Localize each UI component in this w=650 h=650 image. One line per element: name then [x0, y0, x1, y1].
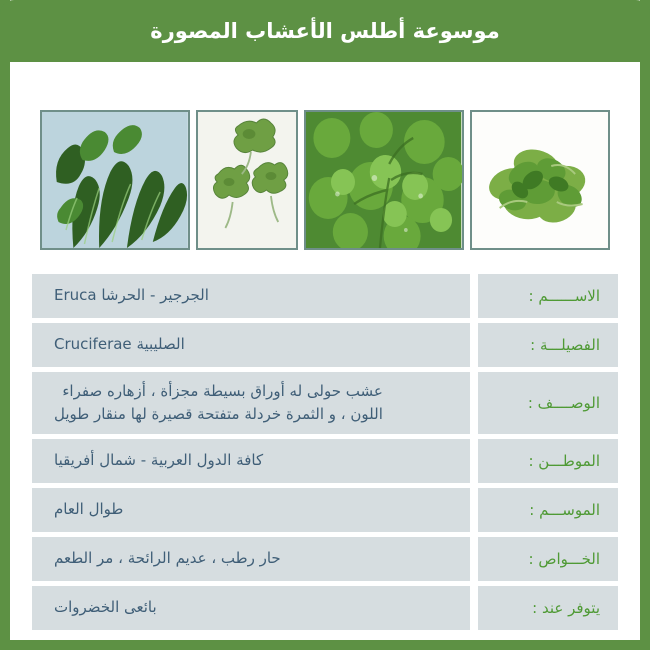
rocket-bunch-photo[interactable] [40, 110, 190, 250]
value-name: الجرجير - الحرشا Eruca [32, 274, 470, 318]
rocket-leaf-specimens-image [198, 112, 296, 248]
rocket-bunch-image [42, 112, 188, 248]
value-habitat: كافة الدول العربية - شمال أفريقيا [32, 439, 470, 483]
label-season: الموســـم : [478, 488, 618, 532]
table-row-properties: الخـــواص : حار رطب ، عديم الرائحة ، مر … [32, 537, 618, 581]
table-row-season: الموســـم : طوال العام [32, 488, 618, 532]
page-content: الاســــــم : الجرجير - الحرشا Eruca الف… [10, 62, 640, 640]
table-row-family: الفصيلـــة : الصليبية Cruciferae [32, 323, 618, 367]
description-text: عشب حولى له أوراق بسيطة مجزأة ، أزهاره ص… [54, 380, 383, 427]
label-description: الوصــــف : [478, 372, 618, 434]
chopped-watercress-image [472, 112, 608, 248]
round-leaf-watercress-photo[interactable] [304, 110, 463, 250]
herb-info-table: الاســــــم : الجرجير - الحرشا Eruca الف… [32, 274, 618, 630]
table-row-habitat: الموطـــن : كافة الدول العربية - شمال أف… [32, 439, 618, 483]
label-habitat: الموطـــن : [478, 439, 618, 483]
table-row-name: الاســــــم : الجرجير - الحرشا Eruca [32, 274, 618, 318]
value-family: الصليبية Cruciferae [32, 323, 470, 367]
table-row-availability: يتوفر عند : بائعى الخضروات [32, 586, 618, 630]
label-properties: الخـــواص : [478, 537, 618, 581]
table-row-description: الوصــــف : عشب حولى له أوراق بسيطة مجزأ… [32, 372, 618, 434]
page-header-band: موسوعة أطلس الأعشاب المصورة [0, 0, 650, 62]
chopped-watercress-photo[interactable] [470, 110, 610, 250]
value-season: طوال العام [32, 488, 470, 532]
rocket-leaf-specimens-photo[interactable] [196, 110, 298, 250]
label-name: الاســــــم : [478, 274, 618, 318]
herb-encyclopedia-page: موسوعة أطلس الأعشاب المصورة [0, 0, 650, 650]
value-availability: بائعى الخضروات [32, 586, 470, 630]
value-description: عشب حولى له أوراق بسيطة مجزأة ، أزهاره ص… [32, 372, 470, 434]
value-properties: حار رطب ، عديم الرائحة ، مر الطعم [32, 537, 470, 581]
plant-photo-gallery [40, 110, 610, 250]
page-title: موسوعة أطلس الأعشاب المصورة [150, 21, 499, 42]
round-leaf-watercress-image [306, 112, 461, 248]
label-availability: يتوفر عند : [478, 586, 618, 630]
label-family: الفصيلـــة : [478, 323, 618, 367]
